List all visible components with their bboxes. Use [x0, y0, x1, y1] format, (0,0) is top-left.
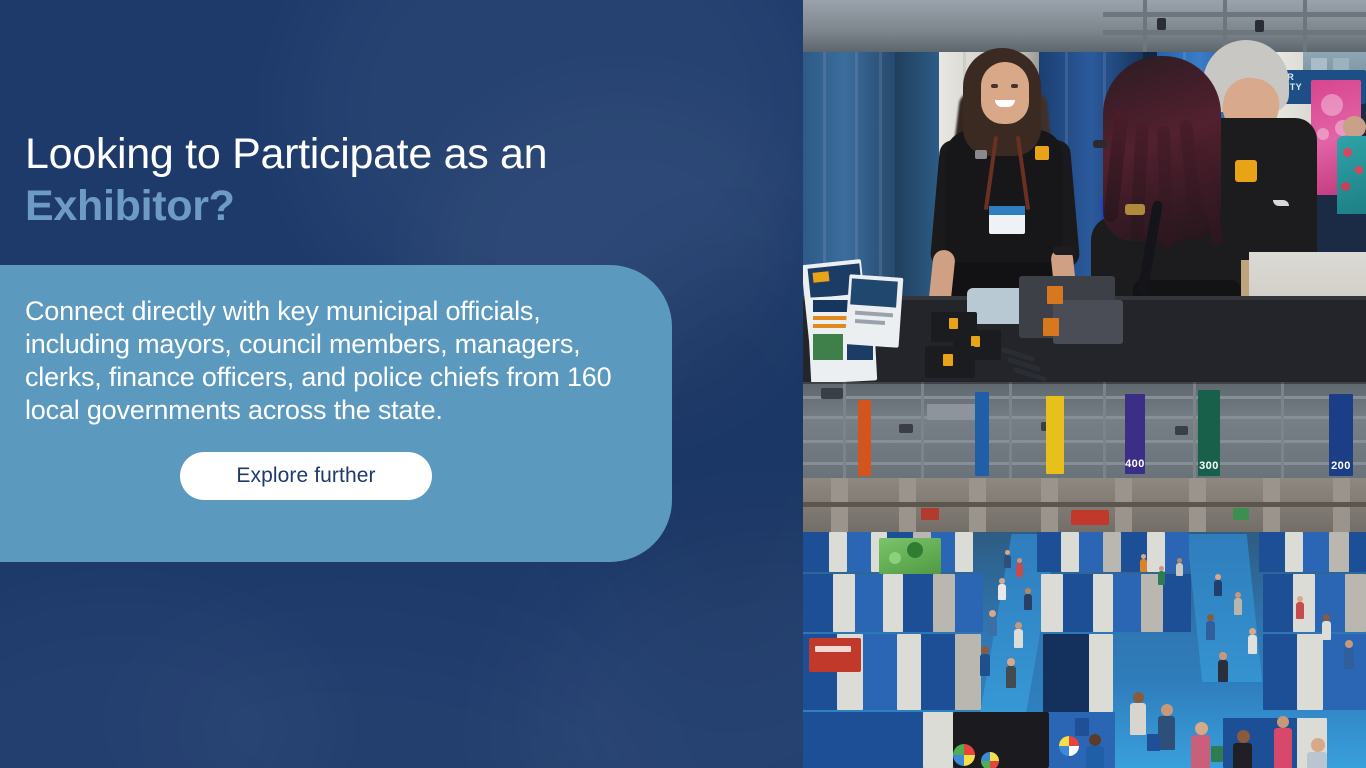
explore-further-button[interactable]: Explore further [180, 452, 432, 500]
aisle-banner-200: 200 [1329, 394, 1353, 476]
aisle-banner-400: 400 [1125, 394, 1145, 474]
page-title-line-1: Looking to Participate as an [25, 128, 725, 180]
exhibitor-hero-banner: Looking to Participate as an Exhibitor? … [0, 0, 1366, 768]
aisle-banner-300: 300 [1198, 390, 1220, 476]
cta-container: Explore further [25, 452, 612, 500]
info-card: Connect directly with key municipal offi… [0, 265, 672, 562]
booth-logo-badge [1235, 160, 1257, 182]
aisle-banner [975, 392, 989, 476]
background-texture-wash [137, 606, 663, 768]
aisle-banner [858, 400, 871, 476]
aisle-banner [1046, 396, 1064, 474]
exhibitor-booth-photo: OUR UNITY [803, 0, 1366, 382]
photo-divider [803, 382, 1366, 384]
page-title: Looking to Participate as an Exhibitor? [25, 128, 725, 233]
page-title-line-2-accent: Exhibitor? [25, 180, 725, 232]
booth-logo-badge [1035, 146, 1049, 160]
info-card-body: Connect directly with key municipal offi… [25, 295, 612, 427]
background-texture-wash [0, 600, 330, 768]
convention-hall-aerial-photo: 400 300 200 [803, 382, 1366, 768]
hero-left-panel: Looking to Participate as an Exhibitor? … [0, 0, 803, 768]
hero-photo-column: OUR UNITY [803, 0, 1366, 768]
